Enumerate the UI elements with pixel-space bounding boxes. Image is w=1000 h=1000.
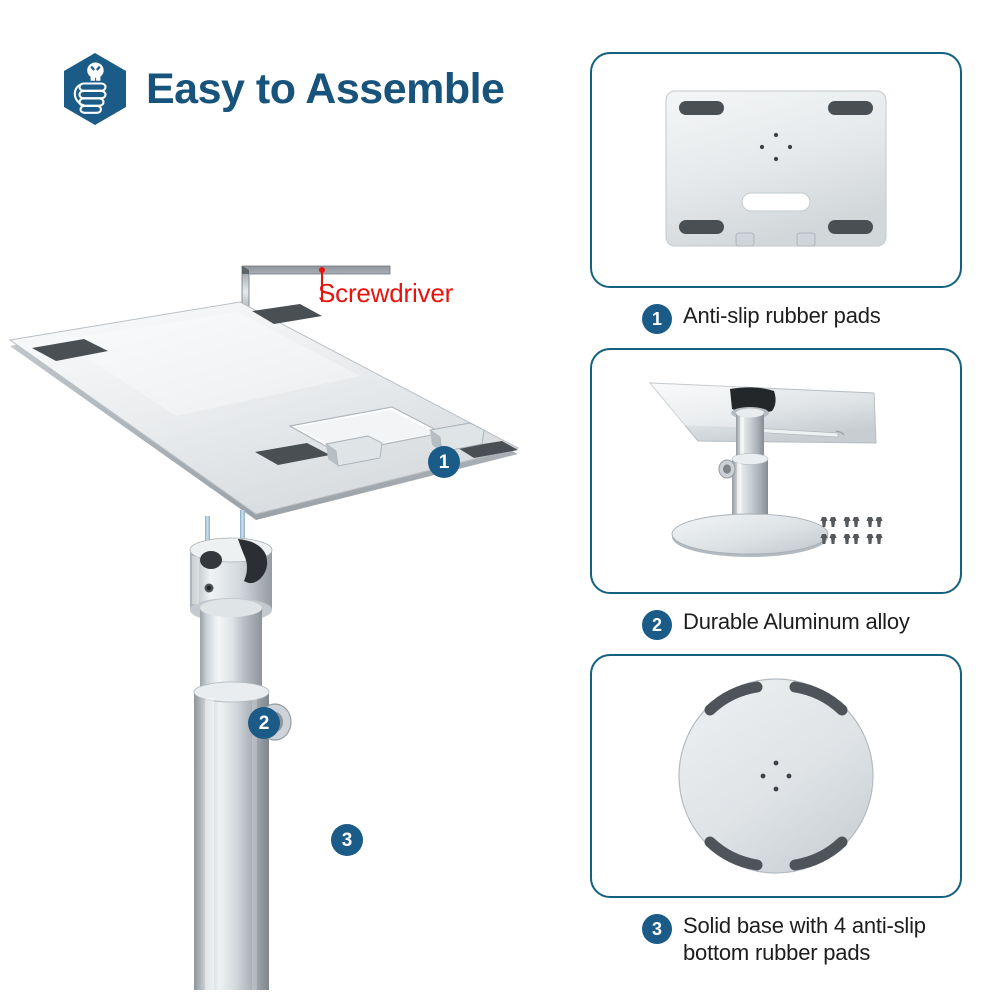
panel-2-badge: 2 bbox=[642, 610, 672, 640]
panel-2-caption-text: Durable Aluminum alloy bbox=[683, 608, 910, 635]
panel1-cable-slot bbox=[742, 193, 810, 211]
feature-panel-2: 2 Durable Aluminum alloy bbox=[590, 348, 962, 640]
panel-2-caption: 2 Durable Aluminum alloy bbox=[590, 608, 962, 640]
feature-panel-3: 3 Solid base with 4 anti-slipbottom rubb… bbox=[590, 654, 962, 967]
hero-callout-1: 1 bbox=[428, 446, 460, 478]
hero-callout-2: 2 bbox=[248, 707, 280, 739]
panel-3-caption: 3 Solid base with 4 anti-slipbottom rubb… bbox=[590, 912, 962, 967]
feature-panel-1: 1 Anti-slip rubber pads bbox=[590, 52, 962, 334]
infographic-canvas: Easy to Assemble Screwdriver bbox=[0, 0, 1000, 1000]
panel-1-image bbox=[590, 52, 962, 288]
header: Easy to Assemble bbox=[62, 52, 504, 126]
exploded-assembly-diagram bbox=[0, 230, 560, 990]
panel-1-caption: 1 Anti-slip rubber pads bbox=[590, 302, 962, 334]
panel-3-caption-text: Solid base with 4 anti-slipbottom rubber… bbox=[683, 912, 926, 967]
panel-3-caption-line-1: Solid base with 4 anti-slip bbox=[683, 913, 926, 938]
assembled-stand-side-view-art bbox=[626, 371, 926, 571]
panel-3-image bbox=[590, 654, 962, 898]
telescoping-column-upper bbox=[200, 599, 262, 696]
laptop-tray-plate bbox=[10, 302, 518, 520]
panel-1-badge: 1 bbox=[642, 304, 672, 334]
panel-3-caption-line-2: bottom rubber pads bbox=[683, 940, 870, 965]
base-bottom-view-art bbox=[671, 671, 881, 881]
panel-1-caption-text: Anti-slip rubber pads bbox=[683, 302, 881, 329]
panel2-screw-set bbox=[820, 517, 882, 544]
hero-callout-3: 3 bbox=[331, 824, 363, 856]
tray-top-view-art bbox=[656, 85, 896, 255]
panel-2-image bbox=[590, 348, 962, 594]
hand-wrench-hexagon-icon bbox=[62, 52, 128, 126]
feature-panels: 1 Anti-slip rubber pads bbox=[590, 52, 962, 981]
page-title: Easy to Assemble bbox=[146, 68, 504, 111]
panel-3-badge: 3 bbox=[642, 914, 672, 944]
